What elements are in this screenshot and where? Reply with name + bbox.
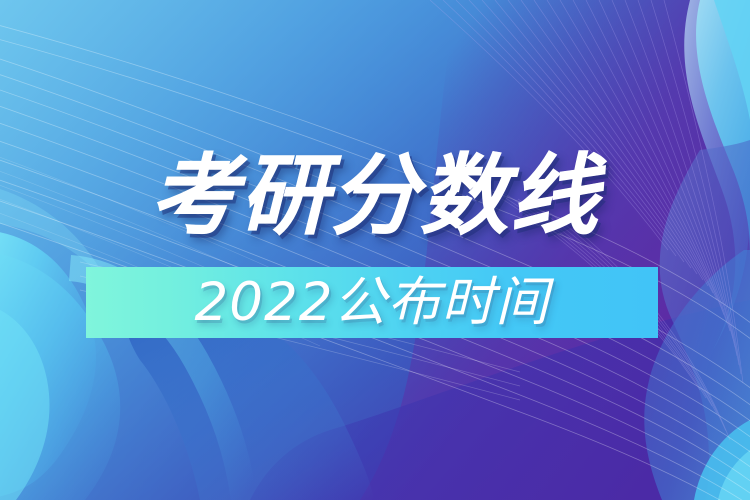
subtitle-label: 2022公布时间 [195, 274, 550, 332]
subtitle-bar: 2022公布时间 [86, 267, 658, 338]
promo-banner: 考研分数线 2022公布时间 [0, 0, 750, 500]
line-texture-overlay [0, 0, 750, 500]
